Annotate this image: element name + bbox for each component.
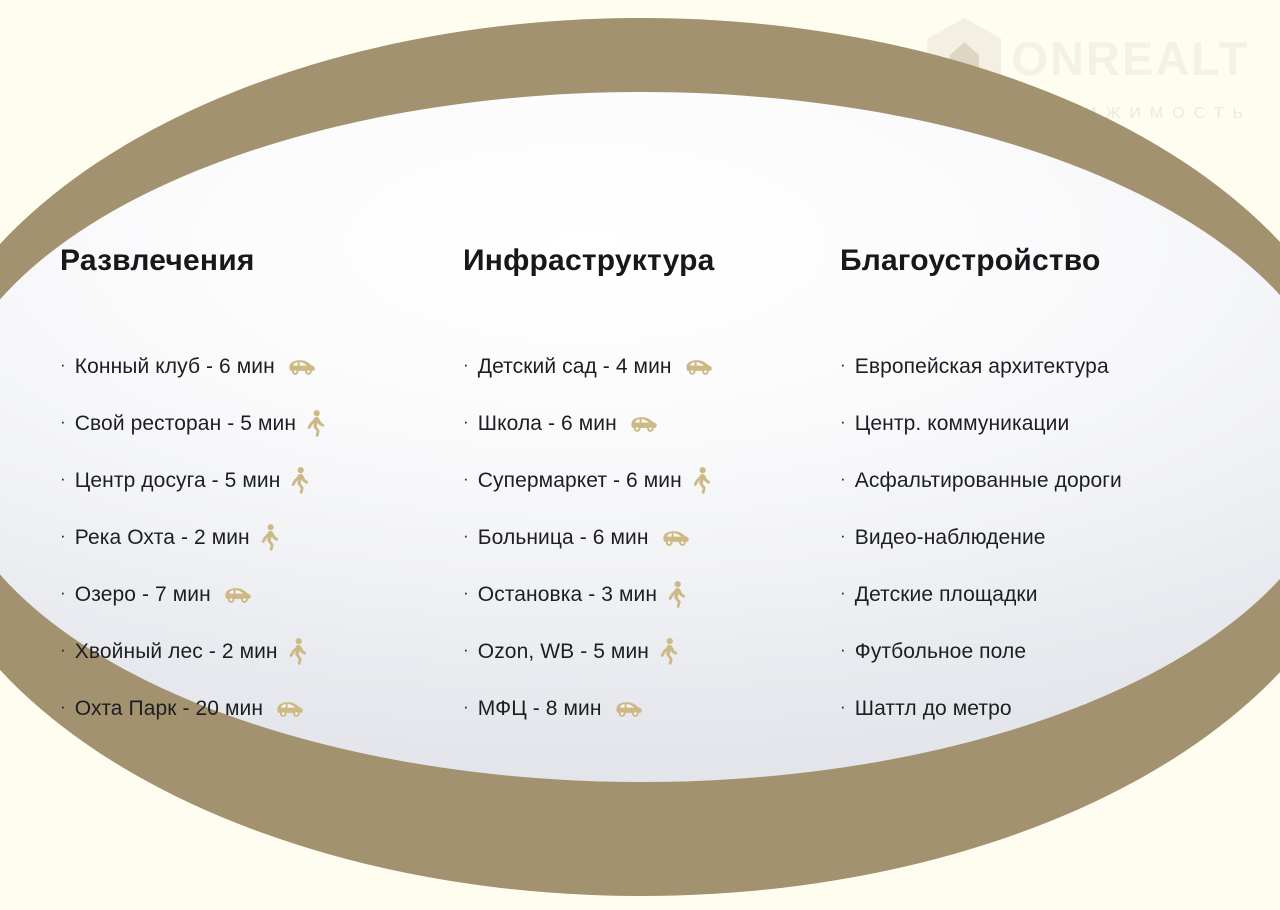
list-item: ·Охта Парк - 20 мин [60,680,432,737]
amenity-list: ·Конный клуб - 6 мин·Свой ресторан - 5 м… [60,338,432,737]
column-title: Благоустройство [840,246,1242,276]
list-item: ·Европейская архитектура [840,338,1242,395]
list-item-label: Детский сад - 4 мин [478,356,672,377]
list-item: ·Центр. коммуникации [840,395,1242,452]
list-item-label: Центр досуга - 5 мин [75,470,281,491]
walking-icon [307,410,324,437]
bullet-marker: · [840,470,846,487]
list-item-label: Видео-наблюдение [855,527,1046,548]
column-title: Инфраструктура [463,246,822,276]
car-icon [683,356,713,378]
bullet-marker: · [60,527,66,544]
list-item-label: Больница - 6 мин [478,527,649,548]
bullet-marker: · [840,698,846,715]
list-item: ·Хвойный лес - 2 мин [60,623,432,680]
list-item: ·Остановка - 3 мин [463,566,822,623]
list-item: ·Шаттл до метро [840,680,1242,737]
column-title: Развлечения [60,246,432,276]
bullet-marker: · [463,641,469,658]
bullet-marker: · [840,584,846,601]
list-item-label: Детские площадки [855,584,1038,605]
list-item-label: Река Охта - 2 мин [75,527,250,548]
car-icon [628,413,658,435]
list-item-label: Центр. коммуникации [855,413,1070,434]
walking-icon [261,524,278,551]
list-item-label: Асфальтированные дороги [855,470,1122,491]
list-item-label: Остановка - 3 мин [478,584,657,605]
list-item-label: Свой ресторан - 5 мин [75,413,296,434]
column-landscaping: Благоустройство ·Европейская архитектура… [822,246,1242,910]
bullet-marker: · [60,413,66,430]
amenity-list: ·Европейская архитектура·Центр. коммуник… [840,338,1242,737]
list-item-label: Футбольное поле [855,641,1026,662]
list-item-label: Охта Парк - 20 мин [75,698,263,719]
list-item: ·Озеро - 7 мин [60,566,432,623]
list-item: ·Центр досуга - 5 мин [60,452,432,509]
bullet-marker: · [463,698,469,715]
list-item-label: Конный клуб - 6 мин [75,356,275,377]
car-icon [274,698,304,720]
bullet-marker: · [463,527,469,544]
bullet-marker: · [463,413,469,430]
bullet-marker: · [840,527,846,544]
list-item: ·Ozon, WB - 5 мин [463,623,822,680]
list-item-label: Европейская архитектура [855,356,1109,377]
column-entertainment: Развлечения ·Конный клуб - 6 мин·Свой ре… [0,246,432,910]
list-item: ·Детские площадки [840,566,1242,623]
list-item: ·Река Охта - 2 мин [60,509,432,566]
list-item-label: МФЦ - 8 мин [478,698,602,719]
bullet-marker: · [60,356,66,373]
car-icon [613,698,643,720]
column-infrastructure: Инфраструктура ·Детский сад - 4 мин·Школ… [432,246,822,910]
list-item-label: Ozon, WB - 5 мин [478,641,649,662]
list-item-label: Озеро - 7 мин [75,584,211,605]
list-item: ·Видео-наблюдение [840,509,1242,566]
list-item: ·МФЦ - 8 мин [463,680,822,737]
list-item: ·Больница - 6 мин [463,509,822,566]
bullet-marker: · [840,641,846,658]
list-item-label: Хвойный лес - 2 мин [75,641,278,662]
bullet-marker: · [463,356,469,373]
walking-icon [289,638,306,665]
columns-container: Развлечения ·Конный клуб - 6 мин·Свой ре… [0,0,1280,910]
list-item: ·Школа - 6 мин [463,395,822,452]
list-item: ·Конный клуб - 6 мин [60,338,432,395]
list-item: ·Детский сад - 4 мин [463,338,822,395]
car-icon [286,356,316,378]
bullet-marker: · [60,641,66,658]
car-icon [222,584,252,606]
bullet-marker: · [463,584,469,601]
walking-icon [291,467,308,494]
list-item-label: Школа - 6 мин [478,413,617,434]
bullet-marker: · [60,584,66,601]
bullet-marker: · [840,413,846,430]
list-item-label: Супермаркет - 6 мин [478,470,682,491]
car-icon [660,527,690,549]
list-item: ·Свой ресторан - 5 мин [60,395,432,452]
list-item: ·Асфальтированные дороги [840,452,1242,509]
amenity-list: ·Детский сад - 4 мин·Школа - 6 мин·Супер… [463,338,822,737]
list-item: ·Футбольное поле [840,623,1242,680]
bullet-marker: · [60,698,66,715]
walking-icon [693,467,710,494]
bullet-marker: · [60,470,66,487]
walking-icon [660,638,677,665]
list-item-label: Шаттл до метро [855,698,1012,719]
bullet-marker: · [463,470,469,487]
bullet-marker: · [840,356,846,373]
walking-icon [668,581,685,608]
list-item: ·Супермаркет - 6 мин [463,452,822,509]
